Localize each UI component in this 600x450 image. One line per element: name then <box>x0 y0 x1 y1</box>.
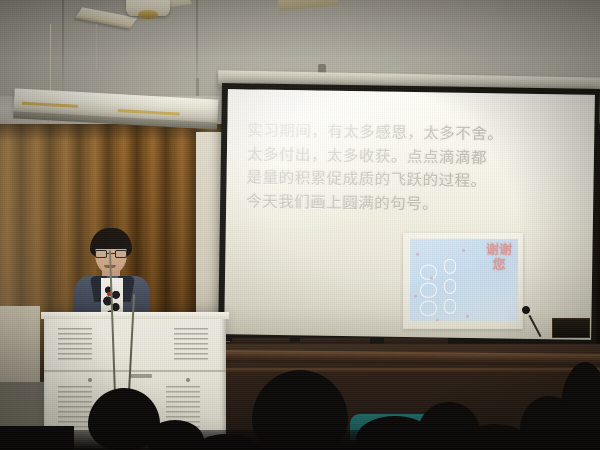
podium-vent <box>58 328 92 362</box>
ceiling-seam <box>62 0 64 100</box>
light-hanger <box>196 78 199 96</box>
podium-handle[interactable] <box>130 374 152 378</box>
light-tube <box>118 109 180 115</box>
presenter-hair-fringe <box>91 236 131 249</box>
equipment-box <box>552 318 590 338</box>
light-tube <box>22 102 78 108</box>
fan-hub <box>138 10 158 19</box>
podium-screw <box>88 378 92 382</box>
greeting-card: 谢谢您 <box>410 239 518 321</box>
screen-surface: 实习期间，有太多感恩，太多不舍。 太多付出，太多收获。点点滴滴都 是量的积累促成… <box>224 89 595 340</box>
foreground-shadow <box>0 430 600 450</box>
podium-vent <box>58 386 92 428</box>
podium-top-surface <box>41 312 229 319</box>
fan-pull-cord <box>96 24 97 70</box>
ceiling-fan-icon <box>96 0 182 34</box>
wall-panel <box>0 306 40 382</box>
slide-embedded-photo: 谢谢您 <box>403 233 523 329</box>
microphone-on-stand[interactable] <box>520 306 544 334</box>
podium-vent <box>174 328 208 362</box>
podium-seam <box>44 370 226 372</box>
microphone-head-icon <box>522 306 530 314</box>
microphone-boom <box>528 315 541 337</box>
photo-scene: 实习期间，有太多感恩，太多不舍。 太多付出，太多收获。点点滴滴都 是量的积累促成… <box>0 0 600 450</box>
card-greeting-text: 谢谢您 <box>486 243 512 273</box>
slide-text-block: 实习期间，有太多感恩，太多不舍。 太多付出，太多收获。点点滴滴都 是量的积累促成… <box>246 119 531 217</box>
podium-screw <box>186 378 190 382</box>
slide-line: 今天我们画上圆满的句号。 <box>246 190 530 218</box>
card-bubble-letters <box>418 247 480 321</box>
